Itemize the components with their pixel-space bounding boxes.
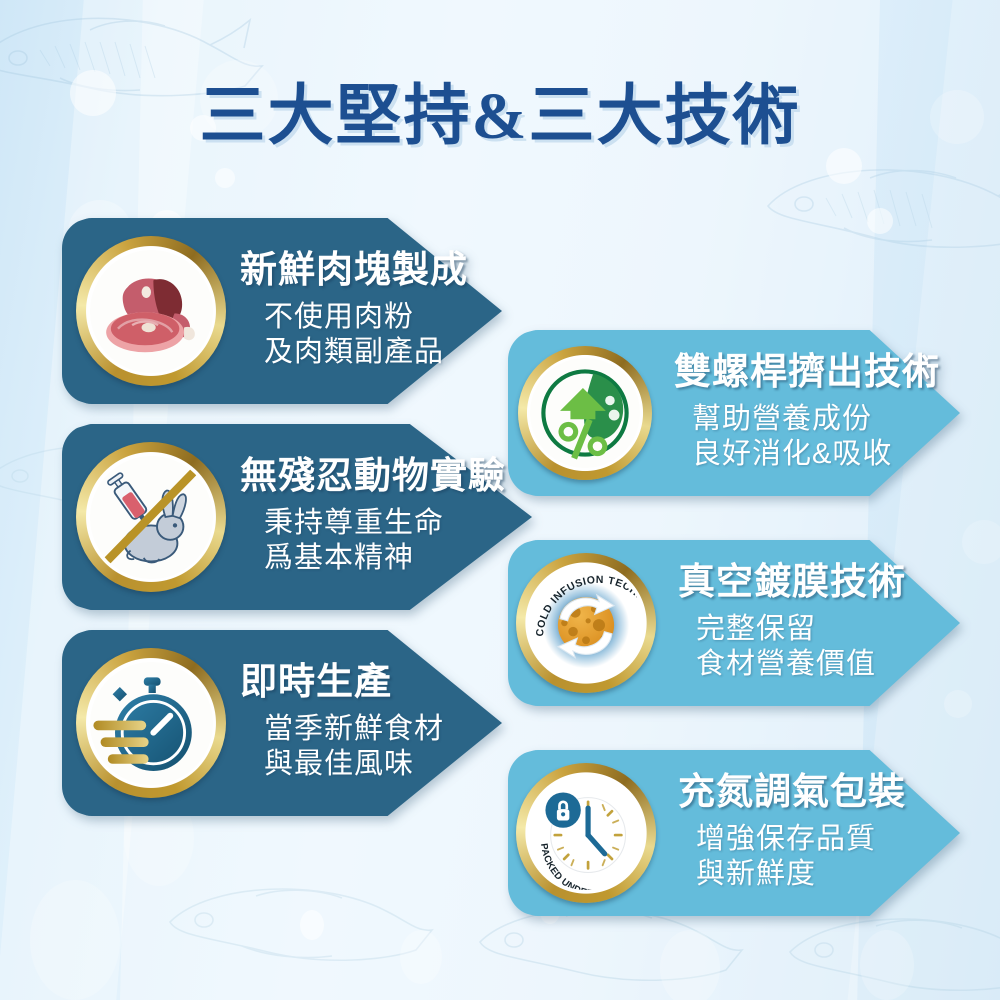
bubble — [30, 880, 120, 1000]
card-heading: 雙螺桿擠出技術 — [674, 353, 940, 394]
bubble — [300, 910, 324, 940]
card-subtext-line2: 與最佳風味 — [248, 747, 444, 782]
ring-text-label: PACKED UNDER PROTECTIVE ATMOSPHERE — [529, 776, 644, 891]
bubble — [660, 930, 720, 1000]
page-title: 三大堅持&三大技術 — [0, 62, 1000, 158]
card-no-animal-testing[interactable]: 無殘忍動物實驗 秉持尊重生命 爲基本精神 — [62, 424, 532, 610]
card-subtext-line1: 增強保存品質 — [678, 822, 906, 857]
card-subtext-line1: 不使用肉粉 — [248, 300, 468, 335]
card-subtext-line1: 秉持尊重生命 — [248, 506, 506, 541]
bubble — [400, 930, 442, 984]
card-heading: 真空鍍膜技術 — [678, 563, 906, 604]
ring-text-label: COLD INFUSION TECHNOLOGY — [533, 573, 643, 639]
stopwatch-icon — [76, 648, 226, 798]
card-text: 新鮮肉塊製成 不使用肉粉 及肉類副產品 — [226, 251, 468, 370]
protective-atmosphere-clock-icon: PACKED UNDER PROTECTIVE ATMOSPHERE — [516, 763, 656, 903]
card-text: 雙螺桿擠出技術 幫助營養成份 良好消化&吸收 — [652, 353, 940, 472]
card-heading: 即時生產 — [240, 663, 444, 704]
card-fresh-meat[interactable]: 新鮮肉塊製成 不使用肉粉 及肉類副產品 — [62, 218, 502, 404]
bubble — [867, 208, 893, 234]
card-twin-screw-extrusion[interactable]: 雙螺桿擠出技術 幫助營養成份 良好消化&吸收 — [508, 330, 960, 496]
card-heading: 新鮮肉塊製成 — [240, 251, 468, 292]
protective-atmosphere-ring-text: PACKED UNDER PROTECTIVE ATMOSPHERE — [529, 776, 644, 891]
card-subtext-line2: 良好消化&吸收 — [674, 437, 940, 472]
card-text: 充氮調氣包裝 增強保存品質 與新鮮度 — [656, 773, 906, 892]
card-just-in-time[interactable]: 即時生產 當季新鮮食材 與最佳風味 — [62, 630, 502, 816]
fresh-meat-icon — [76, 236, 226, 386]
card-heading: 無殘忍動物實驗 — [240, 457, 506, 498]
poster-canvas: 三大堅持&三大技術 新鮮肉塊製成 — [0, 0, 1000, 1000]
no-animal-testing-icon — [76, 442, 226, 592]
bubble — [962, 520, 1000, 564]
card-nitrogen-packaging[interactable]: PACKED UNDER PROTECTIVE ATMOSPHERE 充氮調氣包… — [508, 750, 960, 916]
card-subtext-line1: 幫助營養成份 — [674, 402, 940, 437]
card-subtext-line2: 與新鮮度 — [678, 857, 906, 892]
green-percent-leaf-icon — [518, 346, 652, 480]
card-text: 無殘忍動物實驗 秉持尊重生命 爲基本精神 — [226, 457, 506, 576]
cold-infusion-ring-text: COLD INFUSION TECHNOLOGY — [529, 566, 644, 681]
card-subtext-line2: 及肉類副產品 — [248, 335, 468, 370]
card-text: 真空鍍膜技術 完整保留 食材營養價值 — [656, 563, 906, 682]
card-subtext-line2: 食材營養價值 — [678, 647, 906, 682]
card-subtext-line2: 爲基本精神 — [248, 541, 506, 576]
card-text: 即時生產 當季新鮮食材 與最佳風味 — [226, 663, 444, 782]
svg-text:COLD INFUSION TECHNOLOGY: COLD INFUSION TECHNOLOGY — [533, 573, 643, 639]
background-fish-top-right — [760, 140, 1000, 270]
cold-infusion-icon: COLD INFUSION TECHNOLOGY — [516, 553, 656, 693]
svg-text:PACKED UNDER PROTECTIVE ATMOSP: PACKED UNDER PROTECTIVE ATMOSPHERE — [529, 776, 644, 891]
card-vacuum-coating[interactable]: COLD INFUSION TECHNOLOGY 真空鍍膜技術 完整保留 食材營… — [508, 540, 960, 706]
card-heading: 充氮調氣包裝 — [678, 773, 906, 814]
bubble — [860, 930, 914, 1000]
card-subtext-line1: 當季新鮮食材 — [248, 712, 444, 747]
card-subtext-line1: 完整保留 — [678, 612, 906, 647]
bubble — [215, 168, 235, 188]
